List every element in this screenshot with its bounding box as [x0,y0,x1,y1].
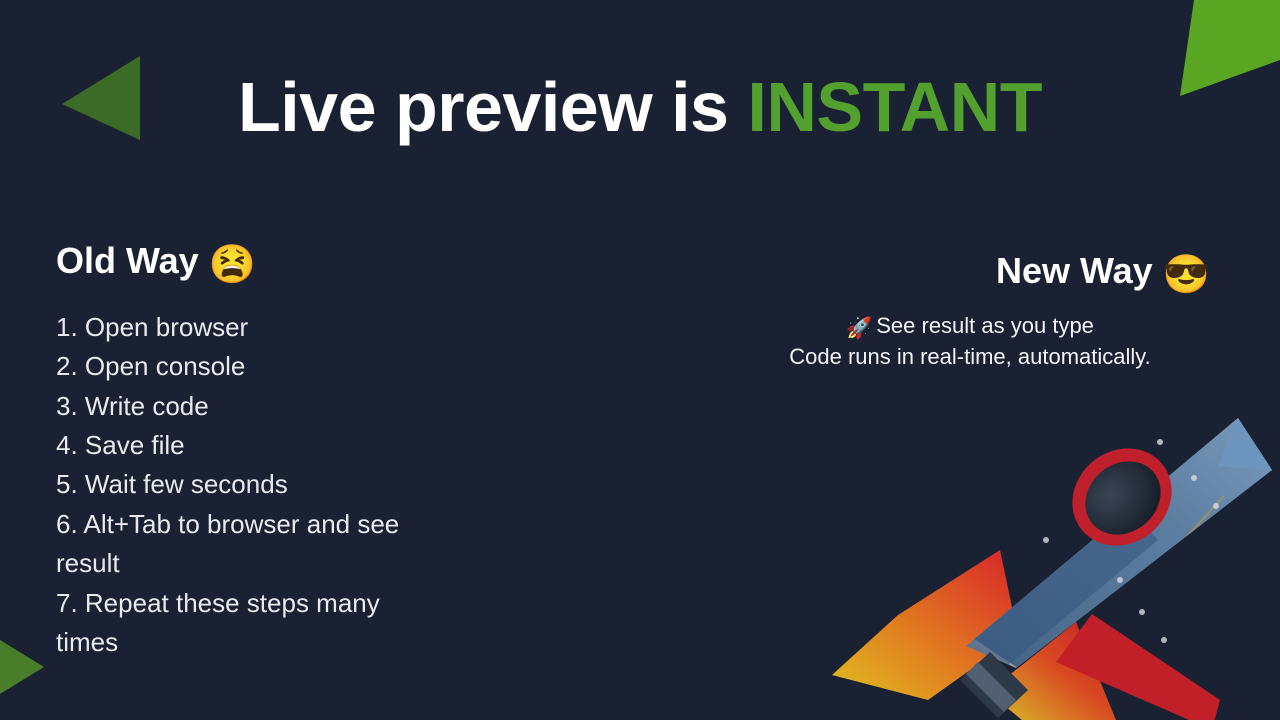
rocket-illustration [820,400,1280,720]
rocket-rivet [1139,609,1145,615]
slide-title-accent: INSTANT [747,68,1042,146]
rocket-rivet [1117,577,1123,583]
rocket-rivet [1161,637,1167,643]
new-way-line-1: 🚀See result as you type [730,312,1210,343]
new-way-heading: New Way😎 [730,250,1210,298]
list-item: 1. Open browser [56,308,426,347]
old-way-column: Old Way😫 1. Open browser 2. Open console… [56,240,426,662]
list-item: 2. Open console [56,347,426,386]
slide-title-main: Live preview is [238,68,747,146]
slide-canvas: Live preview is INSTANT Old Way😫 1. Open… [0,0,1280,720]
rocket-rivet [1043,537,1049,543]
rocket-rivet [1191,475,1197,481]
new-way-line-1-label: See result as you type [876,313,1094,338]
sunglasses-face-emoji: 😎 [1163,254,1210,296]
right-pointing-triangle-icon [0,640,44,694]
old-way-step-list: 1. Open browser 2. Open console 3. Write… [56,308,426,663]
slide-title: Live preview is INSTANT [0,72,1280,142]
tired-face-emoji: 😫 [209,244,256,286]
list-item: 3. Write code [56,387,426,426]
new-way-line-2: Code runs in real-time, automatically. [730,343,1210,371]
rocket-rivet [1213,503,1219,509]
list-item: 5. Wait few seconds [56,465,426,504]
list-item: 4. Save file [56,426,426,465]
old-way-heading-label: Old Way [56,240,199,281]
rocket-rivet [1157,439,1163,445]
new-way-heading-label: New Way [996,250,1153,291]
list-item: 6. Alt+Tab to browser and see result [56,505,426,584]
new-way-column: New Way😎 🚀See result as you type Code ru… [730,250,1210,371]
new-way-body: 🚀See result as you type Code runs in rea… [730,312,1210,371]
rocket-emoji: 🚀 [846,317,872,340]
old-way-heading: Old Way😫 [56,240,426,288]
list-item: 7. Repeat these steps many times [56,584,426,663]
